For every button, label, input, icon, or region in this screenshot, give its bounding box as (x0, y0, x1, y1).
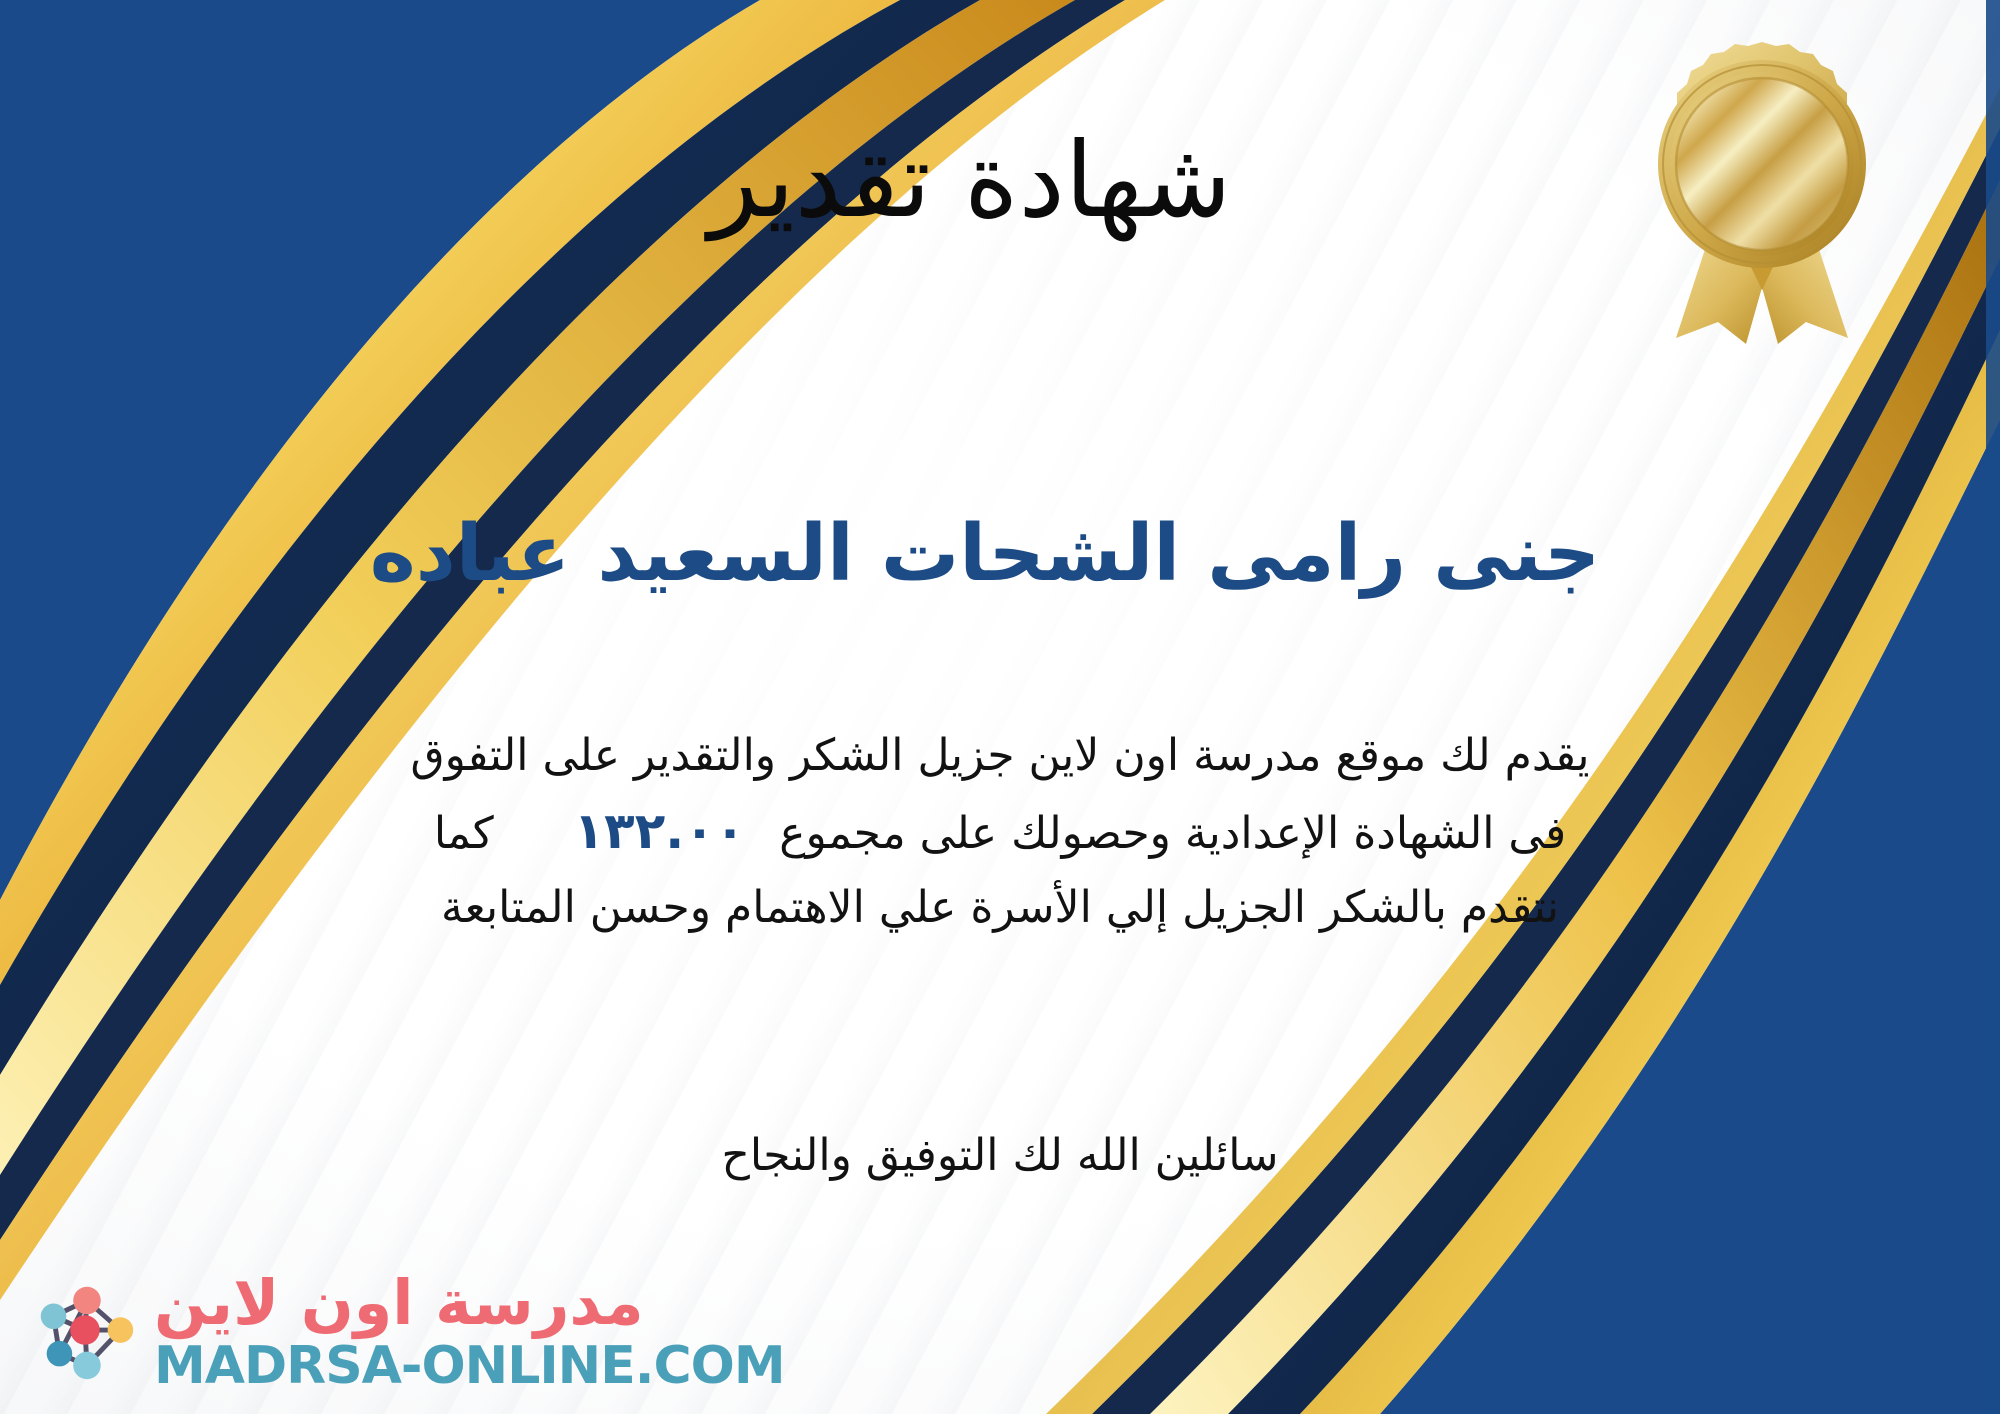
network-nodes-icon (26, 1273, 144, 1391)
brand-text-block: مدرسة اون لاين MADRSA-ONLINE.COM (154, 1272, 785, 1392)
body-line-3: نتقدم بالشكر الجزيل إلي الأسرة علي الاهت… (46, 872, 1954, 943)
body-line-2-prefix: فى الشهادة الإعدادية وحصولك على مجموع (779, 808, 1566, 859)
body-line-2: فى الشهادة الإعدادية وحصولك على مجموع١٣٢… (46, 791, 1954, 872)
grade-total-value: ١٣٢.٠٠ (540, 802, 780, 860)
certificate-canvas: شهادة تقدير جنى رامى الشحات السعيد عباده… (0, 0, 2000, 1414)
brand-arabic-name: مدرسة اون لاين (154, 1272, 644, 1334)
closing-wish-line: سائلين الله لك التوفيق والنجاح (0, 1125, 2000, 1187)
body-line-1: يقدم لك موقع مدرسة اون لاين جزيل الشكر و… (46, 720, 1954, 791)
brand-website-url: MADRSA-ONLINE.COM (154, 1340, 785, 1392)
brand-logo[interactable]: مدرسة اون لاين MADRSA-ONLINE.COM (26, 1272, 785, 1392)
certificate-body-text: يقدم لك موقع مدرسة اون لاين جزيل الشكر و… (46, 720, 1954, 944)
student-name: جنى رامى الشحات السعيد عباده (0, 512, 2000, 598)
body-line-2-suffix: كما (434, 808, 494, 859)
page-title: شهادة تقدير (0, 128, 2000, 232)
certificate-content: شهادة تقدير جنى رامى الشحات السعيد عباده… (0, 0, 2000, 1414)
